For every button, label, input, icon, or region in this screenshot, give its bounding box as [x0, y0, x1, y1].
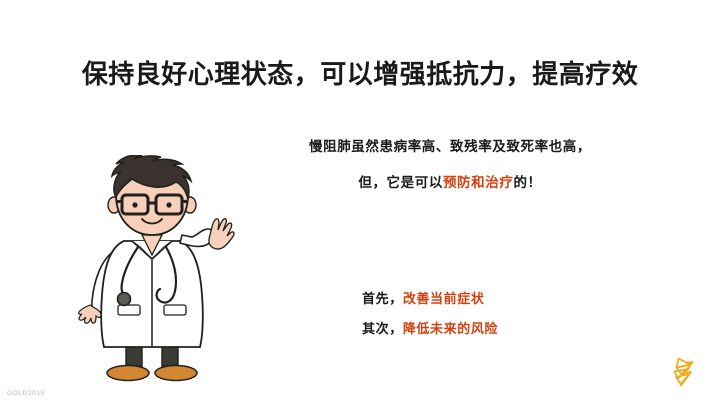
- point-2-highlight: 降低未来的风险: [403, 322, 498, 337]
- point-2-prefix: 其次，: [362, 322, 403, 337]
- astrazeneca-logo-icon: [664, 351, 704, 395]
- cartoon-doctor-illustration: [62, 155, 242, 393]
- stethoscope-chestpiece: [118, 293, 131, 306]
- points-block: 首先，改善当前症状 其次，降低未来的风险: [362, 289, 498, 341]
- slide-canvas: 保持良好心理状态，可以增强抵抗力，提高疗效 慢阻肺虽然患病率高、致残率及致死率也…: [0, 0, 720, 405]
- point-1-prefix: 首先，: [362, 292, 403, 307]
- doctor-waving-hand: [209, 219, 234, 249]
- body-line-2-highlight: 预防和治疗: [443, 175, 514, 191]
- page-title: 保持良好心理状态，可以增强抵抗力，提高疗效: [0, 58, 720, 92]
- doctor-coat-pocket-right: [164, 305, 186, 315]
- doctor-eye-right: [166, 202, 171, 207]
- doctor-eye-left: [132, 202, 137, 207]
- footer-source-note: GOLD2019: [7, 390, 45, 397]
- point-line-2: 其次，降低未来的风险: [362, 319, 498, 341]
- doctor-coat-pocket-left: [118, 305, 140, 315]
- point-line-1: 首先，改善当前症状: [362, 289, 498, 311]
- doctor-shoes: [107, 366, 197, 381]
- body-line-2: 但，它是可以预防和治疗的！: [250, 172, 650, 194]
- body-line-2-prefix: 但，它是可以: [358, 175, 443, 191]
- body-line-2-suffix: 的！: [513, 175, 541, 191]
- point-1-highlight: 改善当前症状: [403, 292, 485, 307]
- body-text-block: 慢阻肺虽然患病率高、致残率及致死率也高， 但，它是可以预防和治疗的！: [250, 136, 650, 194]
- body-line-1: 慢阻肺虽然患病率高、致残率及致死率也高，: [250, 136, 650, 158]
